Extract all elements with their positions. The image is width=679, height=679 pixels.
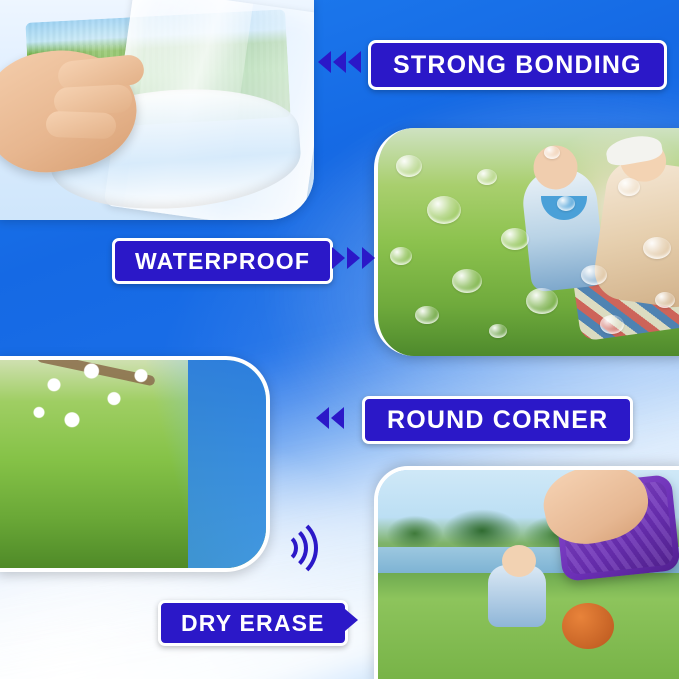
feature-label-waterproof: WATERPROOF xyxy=(112,238,333,284)
feature-label-strong-bonding: STRONG BONDING xyxy=(368,40,667,90)
wiping-photo-with-cloth xyxy=(374,466,679,679)
feature-label-round-corner: ROUND CORNER xyxy=(362,396,633,444)
chevron-left-double-icon xyxy=(316,407,344,429)
chevron-left-triple-icon xyxy=(318,51,361,73)
water-droplets-overlay xyxy=(378,128,679,356)
finger-shape xyxy=(46,111,117,139)
child-figure xyxy=(488,565,546,627)
feature-label-dry-erase: DRY ERASE xyxy=(158,600,348,646)
chevron-right-double-icon xyxy=(330,609,358,631)
sonar-wave-icon xyxy=(268,508,328,580)
collage-canvas: STRONG BONDING WATERPROOF ROUND CORNER D… xyxy=(0,0,679,679)
water-droplets-on-photo xyxy=(374,128,679,356)
rounded-corner-laminated-photo xyxy=(0,356,270,572)
chevron-right-triple-icon xyxy=(332,247,375,269)
blossom-cluster xyxy=(9,356,159,440)
hand-peeling-laminated-sheet-photo xyxy=(0,0,314,220)
basketball-shape xyxy=(562,603,614,649)
